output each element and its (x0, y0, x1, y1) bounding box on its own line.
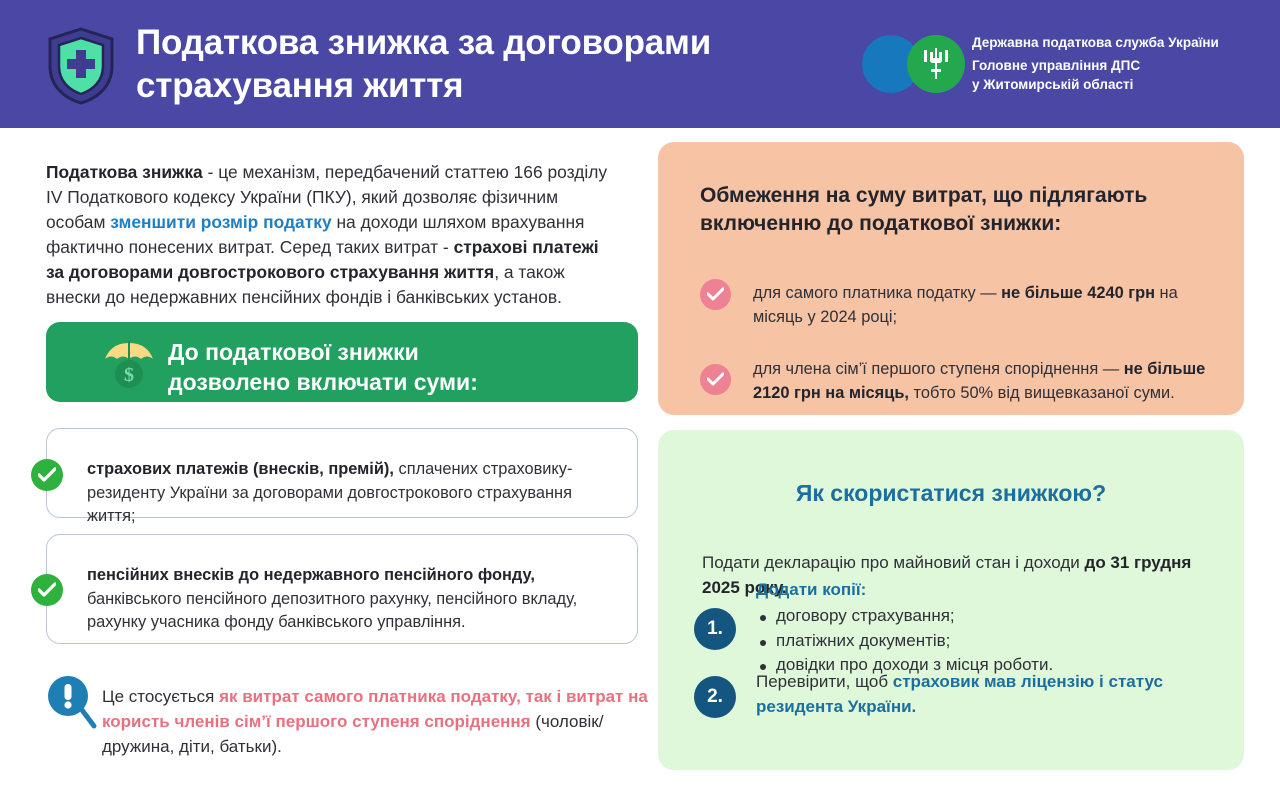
logo-dept-name-1: Головне управління ДПС (972, 56, 1272, 75)
allowed-item-card: страхових платежів (внесків, премій), сп… (46, 428, 638, 518)
limits-title-line2: включенню до податкової знижки: (700, 210, 1210, 238)
allowed-item-text: страхових платежів (внесків, премій), сп… (87, 458, 607, 528)
magnifier-exclamation-icon (46, 674, 98, 730)
allowed-item-bold: страхових платежів (внесків, премій), (87, 460, 394, 478)
allowed-item-bold: пенсійних внесків до недержавного пенсій… (87, 566, 535, 584)
limit-item-text-1: для самого платника податку — (753, 284, 1001, 302)
page-title: Податкова знижка за договорами страхуван… (136, 22, 836, 107)
list-item: платіжних документів; (756, 629, 1221, 654)
limits-panel-title: Обмеження на суму витрат, що підлягають … (700, 182, 1210, 238)
scope-note-text: Це стосується як витрат самого платника … (102, 685, 662, 759)
allowed-item-rest: банківського пенсійного депозитного раху… (87, 590, 577, 631)
logo-dept-name-2: у Житомирській області (972, 75, 1272, 94)
limit-item-text-2: тобто 50% від вищевказаної суми. (909, 384, 1175, 402)
limit-item-text: для члена сім’ї першого ступеня спорідне… (753, 358, 1208, 405)
logo-circles (862, 33, 970, 95)
step-number-badge: 2. (694, 676, 736, 718)
allowed-item-text: пенсійних внесків до недержавного пенсій… (87, 564, 607, 634)
howto-step-body: Перевірити, щоб страховик мав ліцензію і… (756, 670, 1221, 720)
howto-step-text-1: Перевірити, щоб (756, 672, 893, 691)
limit-item-text: для самого платника податку — не більше … (753, 282, 1208, 329)
allowed-banner-line2: дозволено включати суми: (168, 367, 628, 397)
intro-paragraph: Податкова знижка - це механізм, передбач… (46, 160, 616, 309)
howto-step-title: Додати копії: (756, 578, 1221, 602)
limit-item-bold: не більше 4240 грн (1001, 284, 1155, 302)
limit-item-text-1: для члена сім’ї першого ступеня спорідне… (753, 360, 1124, 378)
umbrella-dollar-icon: $ (100, 334, 158, 392)
infographic-page: Податкова знижка за договорами страхуван… (0, 0, 1280, 785)
logo-text: Державна податкова служба України Головн… (972, 33, 1272, 94)
page-header: Податкова знижка за договорами страхуван… (0, 0, 1280, 128)
intro-highlight: зменшити розмір податку (110, 212, 331, 232)
shield-medical-icon (46, 26, 116, 106)
howto-panel: Як скористатися знижкою? Подати декларац… (658, 430, 1244, 770)
check-circle-icon (31, 574, 63, 606)
howto-panel-title: Як скористатися знижкою? (658, 480, 1244, 507)
howto-lead-text-1: Подати декларацію про майновий стан і до… (702, 553, 1085, 572)
limits-title-line1: Обмеження на суму витрат, що підлягають (700, 182, 1210, 210)
intro-term: Податкова знижка (46, 162, 203, 182)
check-circle-icon (700, 364, 731, 395)
limits-panel: Обмеження на суму витрат, що підлягають … (658, 142, 1244, 415)
scope-note-text-1: Це стосується (102, 687, 219, 706)
page-title-line2: страхування життя (136, 65, 836, 108)
howto-step-body: Додати копії: договору страхування; плат… (756, 578, 1221, 678)
howto-step-list: договору страхування; платіжних документ… (756, 604, 1221, 678)
step-number-badge: 1. (694, 608, 736, 650)
allowed-item-card: пенсійних внесків до недержавного пенсій… (46, 534, 638, 644)
agency-logo: Державна податкова служба України Головн… (862, 33, 1262, 95)
check-circle-icon (700, 279, 731, 310)
logo-org-name: Державна податкова служба України (972, 33, 1272, 52)
svg-text:$: $ (124, 364, 134, 386)
ukraine-trident-icon (922, 47, 950, 81)
allowed-banner: $ До податкової знижки дозволено включат… (46, 322, 638, 402)
allowed-banner-text: До податкової знижки дозволено включати … (168, 337, 628, 398)
list-item: договору страхування; (756, 604, 1221, 629)
allowed-banner-line1: До податкової знижки (168, 337, 628, 367)
check-circle-icon (31, 459, 63, 491)
page-title-line1: Податкова знижка за договорами (136, 22, 836, 65)
